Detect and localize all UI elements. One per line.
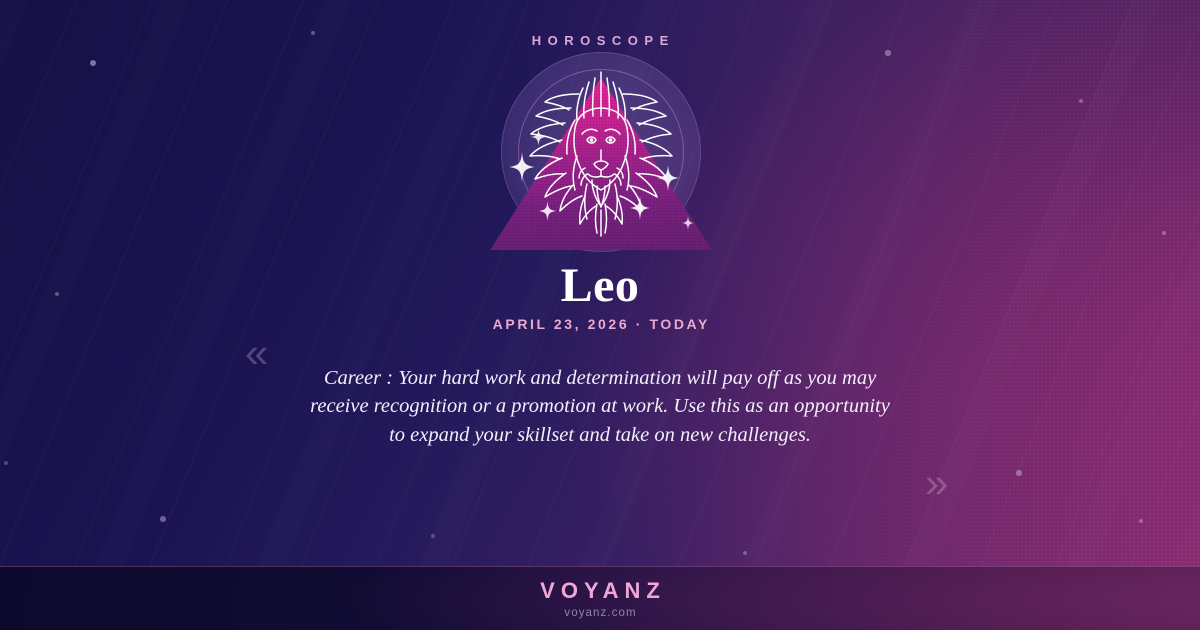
date-label: APRIL 23, 2026 · TODAY (0, 316, 1200, 332)
star-dot (1016, 470, 1021, 475)
star-dot (885, 50, 890, 55)
star-dot (1162, 231, 1167, 236)
star-dot (431, 534, 435, 538)
horoscope-text: Career : Your hard work and determinatio… (300, 364, 900, 449)
footer-bar: VOYANZ voyanz.com (0, 566, 1200, 630)
star-dot (1139, 519, 1143, 523)
chevron-right-icon: » (925, 462, 948, 504)
star-dot (4, 461, 8, 465)
star-dot (743, 551, 747, 555)
horoscope-card: « » HOROSCOPE (0, 0, 1200, 630)
brand-logo: VOYANZ (0, 578, 1200, 604)
star-dot (90, 60, 96, 66)
chevron-left-icon: « (245, 332, 268, 374)
star-dot (160, 516, 166, 522)
brand-website: voyanz.com (0, 607, 1200, 619)
zodiac-title: Leo (0, 258, 1200, 313)
zodiac-emblem (490, 70, 712, 256)
star-dot (1079, 99, 1083, 103)
lion-head-icon (519, 64, 683, 240)
kicker-label: HOROSCOPE (0, 33, 1200, 48)
